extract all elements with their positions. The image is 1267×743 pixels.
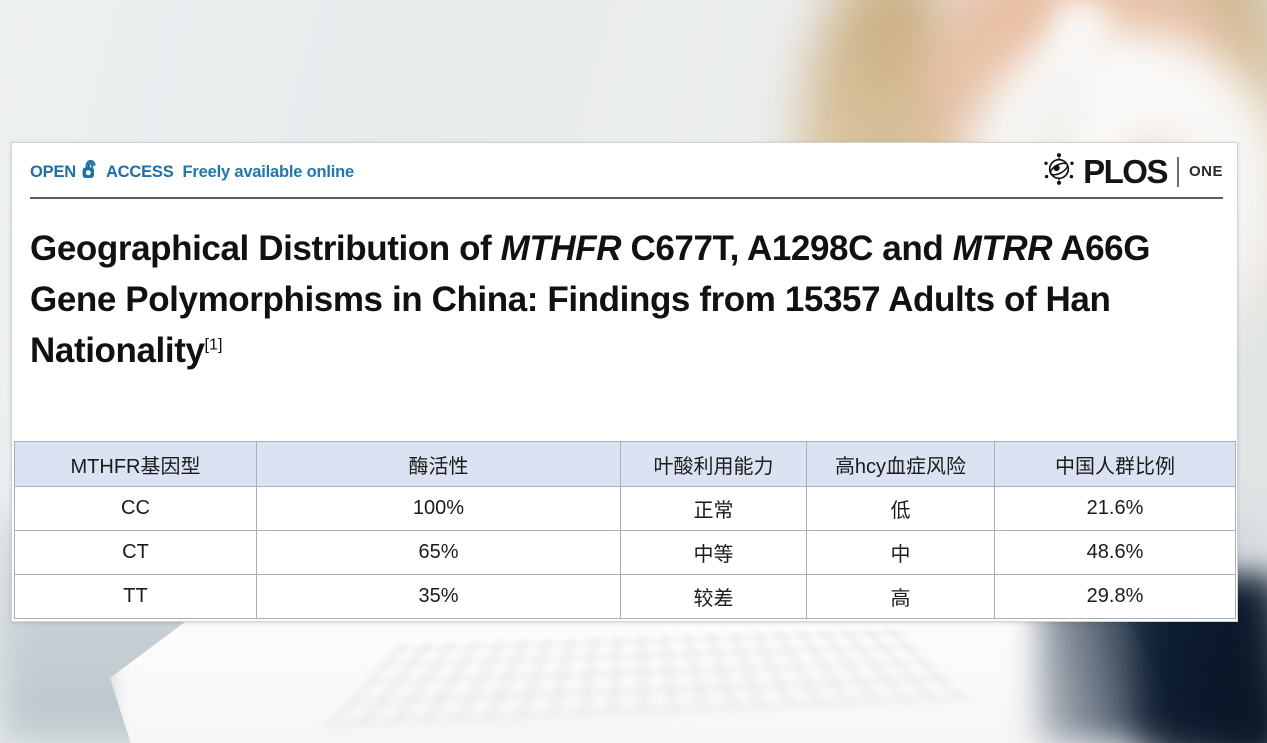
cell-population-ratio: 21.6% [995,487,1236,531]
open-access-badge: OPEN ACCESS Freely available online [30,159,354,185]
genotype-table: MTHFR基因型 酶活性 叶酸利用能力 高hcy血症风险 中国人群比例 CC 1… [14,441,1236,619]
open-lock-icon [81,159,101,185]
cell-enzyme-activity: 35% [257,575,621,619]
cell-hcy-risk-highlighted: 高 [807,575,995,619]
title-line1-prefix: Geographical Distribution of [30,229,501,268]
title-gene-mtrr: MTRR [953,229,1053,268]
cell-folate-utilization: 正常 [621,487,807,531]
column-header-genotype: MTHFR基因型 [15,442,257,487]
title-line1-suffix: C677T, A1298C and [621,229,943,268]
table-row: CT 65% 中等 中 48.6% [15,531,1236,575]
header-divider [30,197,1223,199]
table-row: TT 35% 较差 高 29.8% [15,575,1236,619]
table-row: CC 100% 正常 低 21.6% [15,487,1236,531]
cell-enzyme-activity: 65% [257,531,621,575]
cell-population-ratio: 29.8% [995,575,1236,619]
cell-hcy-risk: 低 [807,487,995,531]
cell-enzyme-activity: 100% [257,487,621,531]
table-header-row: MTHFR基因型 酶活性 叶酸利用能力 高hcy血症风险 中国人群比例 [15,442,1236,487]
open-access-open-label: OPEN [30,163,76,182]
cell-genotype: CC [15,487,257,531]
article-header: OPEN ACCESS Freely available online [12,143,1237,201]
page-title: Geographical Distribution of MTHFR C677T… [12,201,1237,376]
cell-genotype: TT [15,575,257,619]
cell-genotype: CT [15,531,257,575]
column-header-population-ratio: 中国人群比例 [995,442,1236,487]
citation-marker: [1] [205,336,223,354]
cell-folate-utilization: 较差 [621,575,807,619]
open-access-tagline: Freely available online [183,163,354,182]
cell-hcy-risk: 中 [807,531,995,575]
column-header-enzyme-activity: 酶活性 [257,442,621,487]
plos-wordmark: PLOS [1083,153,1167,191]
plos-atom-icon [1041,151,1077,192]
open-access-access-label: ACCESS [106,163,174,182]
slide-root: OPEN ACCESS Freely available online [0,0,1267,743]
column-header-folate-utilization: 叶酸利用能力 [621,442,807,487]
plos-logo: PLOS ONE [1041,151,1223,192]
title-gene-mthfr: MTHFR [501,229,621,268]
plos-edition-label: ONE [1189,163,1223,180]
cell-population-ratio: 48.6% [995,531,1236,575]
column-header-hcy-risk: 高hcy血症风险 [807,442,995,487]
plos-logo-divider [1177,157,1179,187]
cell-folate-utilization: 中等 [621,531,807,575]
